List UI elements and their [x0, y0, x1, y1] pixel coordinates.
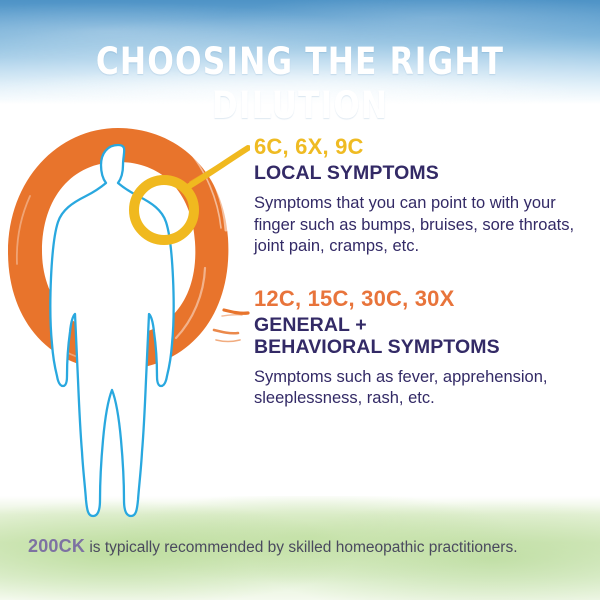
symptom-block-local: 6C, 6X, 9C LOCAL SYMPTOMS Symptoms that … — [254, 134, 592, 258]
symptom-body-general: Symptoms such as fever, apprehension, sl… — [254, 367, 592, 410]
symptom-body-local: Symptoms that you can point to with your… — [254, 193, 592, 258]
page-title: CHOOSING THE RIGHT DILUTION — [18, 40, 582, 128]
content-column: 6C, 6X, 9C LOCAL SYMPTOMS Symptoms that … — [254, 134, 592, 410]
human-body-outline — [50, 145, 173, 516]
footer-note: 200CK is typically recommended by skille… — [28, 536, 584, 558]
footer-potency-highlight: 200CK — [28, 536, 85, 556]
symptom-heading-general-line2: BEHAVIORAL SYMPTOMS — [254, 336, 592, 358]
symptom-heading-general: GENERAL + BEHAVIORAL SYMPTOMS — [254, 314, 592, 358]
potency-label-general: 12C, 15C, 30C, 30X — [254, 286, 592, 312]
symptom-heading-local: LOCAL SYMPTOMS — [254, 162, 592, 184]
infographic-canvas: CHOOSING THE RIGHT DILUTION — [0, 0, 600, 600]
symptom-heading-local-line1: LOCAL SYMPTOMS — [254, 162, 439, 184]
illustration — [0, 118, 250, 530]
symptom-heading-general-line1: GENERAL + — [254, 314, 367, 336]
orange-tick-mark — [224, 310, 248, 313]
footer-note-text: is typically recommended by skilled home… — [85, 539, 517, 556]
potency-label-local: 6C, 6X, 9C — [254, 134, 592, 160]
symptom-block-general: 12C, 15C, 30C, 30X GENERAL + BEHAVIORAL … — [254, 286, 592, 410]
